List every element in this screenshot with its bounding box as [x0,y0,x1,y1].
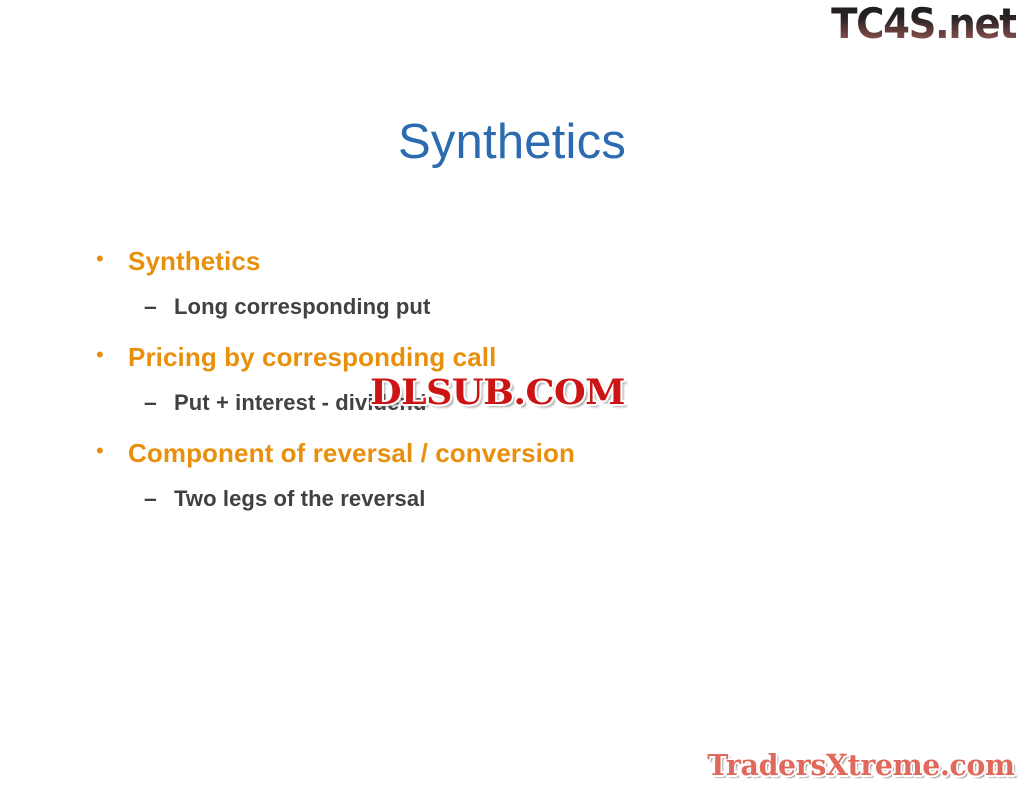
page-title: Synthetics [0,116,1024,170]
list-item-label: Pricing by corresponding call [128,342,496,373]
list-item: • Synthetics [96,246,936,294]
bullet-dash-icon: – [144,295,174,318]
bullet-dot-icon: • [96,344,128,366]
watermark-dlsub: DLSUB.COM [370,372,625,413]
list-item-label: Synthetics [128,246,261,277]
bullet-dot-icon: • [96,248,128,270]
watermark-tradersxtreme: TradersXtreme.com [708,748,1015,782]
list-item: • Component of reversal / conversion [96,438,936,486]
list-item: – Two legs of the reversal [96,486,936,534]
bullet-dash-icon: – [144,487,174,510]
list-item-label: Component of reversal / conversion [128,438,575,469]
list-item-label: Long corresponding put [174,294,430,320]
list-item: – Long corresponding put [96,294,936,342]
watermark-tc4s: TC4S.net [831,2,1016,46]
bullet-dash-icon: – [144,391,174,414]
list-item-label: Two legs of the reversal [174,486,425,512]
bullet-dot-icon: • [96,440,128,462]
presentation-slide: Synthetics • Synthetics – Long correspon… [0,0,1024,791]
